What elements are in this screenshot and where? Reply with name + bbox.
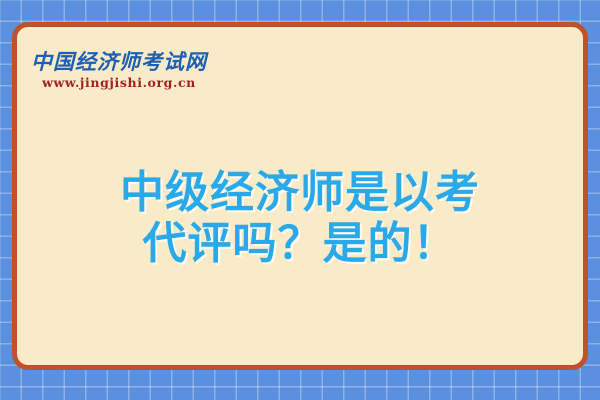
site-url-text: www.jingjishi.org.cn — [29, 77, 209, 90]
headline-line-1: 中级经济师是以考 — [17, 167, 583, 218]
poster-canvas: 中国经济师考试网 www.jingjishi.org.cn 中级经济师是以考 代… — [0, 0, 600, 400]
headline-line-2: 代评吗？是的！ — [17, 218, 583, 269]
headline-title: 中级经济师是以考 代评吗？是的！ — [17, 167, 583, 269]
site-name-text: 中国经济师考试网 — [29, 51, 209, 72]
content-card: 中国经济师考试网 www.jingjishi.org.cn 中级经济师是以考 代… — [12, 22, 588, 370]
site-logo: 中国经济师考试网 www.jingjishi.org.cn — [29, 51, 209, 90]
